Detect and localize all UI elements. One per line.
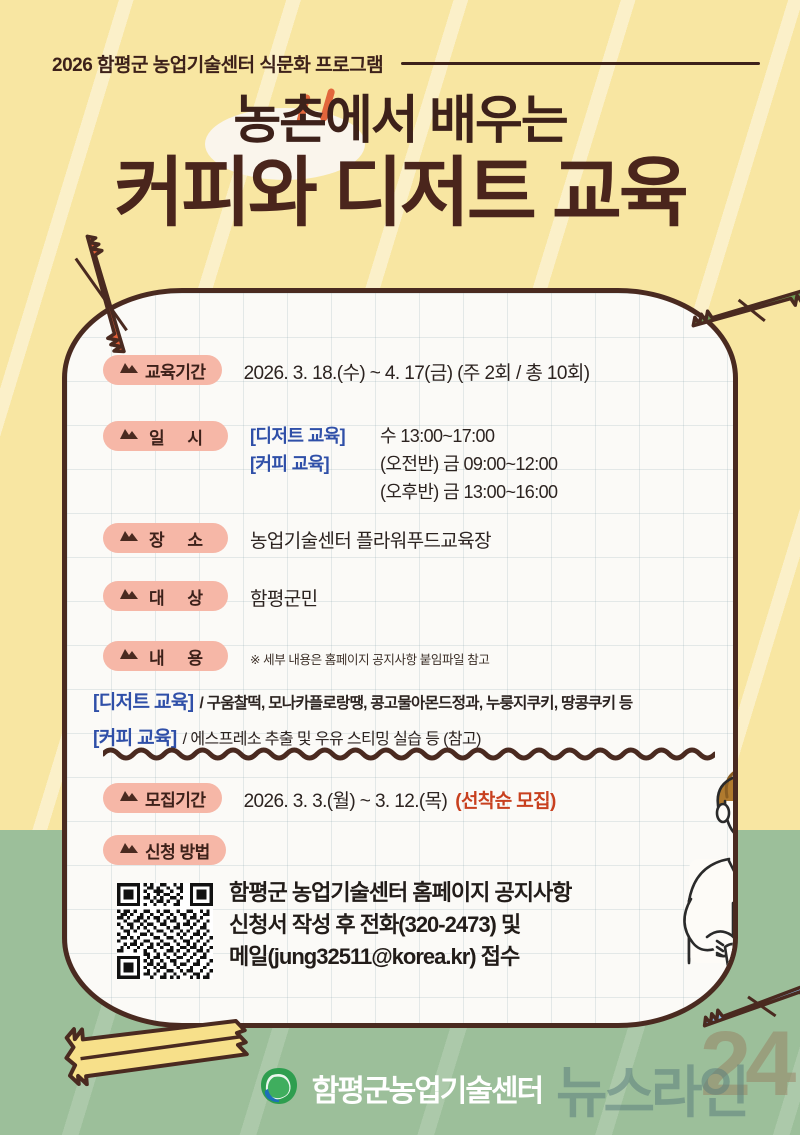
row-location: 장 소 농업기술센터 플라워푸드교육장 — [103, 523, 491, 553]
value-recruitment-period: 2026. 3. 3.(월) ~ 3. 12.(목) — [244, 786, 448, 813]
value-coffee-afternoon: (오후반) 금 13:00~16:00 — [380, 479, 557, 507]
contact-line-3: 메일(jung32511@korea.kr) 접수 — [229, 941, 571, 973]
header: 2026 함평군 농업기술센터 식문화 프로그램 — [0, 46, 800, 80]
agency-name: 함평군농업기술센터 — [312, 1066, 542, 1110]
title-line-2: 커피와 디저트 교육 — [0, 152, 800, 236]
mountain-icon — [119, 427, 139, 445]
tag-dessert-schedule: [디저트 교육] — [250, 423, 362, 451]
row-apply-method: 신청 방법 — [103, 835, 226, 865]
barista-illustration — [667, 741, 738, 971]
row-education-period: 교육기간 2026. 3. 18.(수) ~ 4. 17(금) (주 2회 / … — [103, 355, 589, 385]
title-line-1: 농촌에서 배우는 — [0, 92, 800, 150]
value-location: 농업기술센터 플라워푸드교육장 — [250, 526, 491, 553]
label-pill-target: 대 상 — [103, 581, 228, 611]
contact-block: 함평군 농업기술센터 홈페이지 공지사항 신청서 작성 후 전화(320-247… — [229, 877, 571, 973]
value-target: 함평군민 — [250, 584, 318, 611]
tag-coffee-schedule: [커피 교육] — [250, 451, 362, 479]
tag-dessert-content: [디저트 교육] — [93, 687, 194, 714]
content-dessert-line: [디저트 교육] / 구움찰떡, 모나카플로랑땡, 콩고물아몬드정과, 누룽지쿠… — [93, 687, 632, 714]
agency-logo-icon — [258, 1065, 300, 1112]
mountain-icon — [119, 529, 139, 547]
mountain-icon — [119, 841, 139, 859]
header-rule — [401, 62, 760, 65]
label-text: 교육기간 — [145, 358, 206, 383]
label-text: 신청 방법 — [145, 838, 210, 863]
mountain-icon — [119, 361, 139, 379]
label-text: 일 시 — [145, 424, 212, 449]
info-card: 교육기간 2026. 3. 18.(수) ~ 4. 17(금) (주 2회 / … — [62, 288, 738, 1028]
kicker-text: 2026 함평군 농업기술센터 식문화 프로그램 — [52, 50, 383, 77]
label-pill-schedule: 일 시 — [103, 421, 228, 451]
footer: 함평군농업기술센터 — [0, 1062, 800, 1114]
label-pill-apply-method: 신청 방법 — [103, 835, 226, 865]
mountain-icon — [119, 647, 139, 665]
label-pill-location: 장 소 — [103, 523, 228, 553]
value-dessert-schedule: 수 13:00~17:00 — [380, 423, 494, 451]
mountain-icon — [119, 789, 139, 807]
content-note: ※ 세부 내용은 홈페이지 공지사항 붙임파일 참고 — [250, 649, 489, 668]
wave-divider — [103, 745, 715, 761]
qr-code[interactable] — [117, 883, 213, 979]
poster: 2026 함평군 농업기술센터 식문화 프로그램 농촌에서 배우는 커피와 디저… — [0, 0, 800, 1135]
label-pill-recruitment: 모집기간 — [103, 783, 222, 813]
label-text: 대 상 — [145, 584, 212, 609]
title-block: 농촌에서 배우는 커피와 디저트 교육 — [0, 92, 800, 236]
value-coffee-morning: (오전반) 금 09:00~12:00 — [380, 451, 557, 479]
row-recruitment-period: 모집기간 2026. 3. 3.(월) ~ 3. 12.(목) (선착순 모집) — [103, 783, 556, 813]
mountain-icon — [119, 587, 139, 605]
row-content: 내 용 ※ 세부 내용은 홈페이지 공지사항 붙임파일 참고 — [103, 641, 489, 671]
row-target: 대 상 함평군민 — [103, 581, 318, 611]
contact-line-1: 함평군 농업기술센터 홈페이지 공지사항 — [229, 877, 571, 909]
value-education-period: 2026. 3. 18.(수) ~ 4. 17(금) (주 2회 / 총 10회… — [244, 358, 590, 385]
label-text: 모집기간 — [145, 786, 206, 811]
value-recruitment-highlight: (선착순 모집) — [455, 786, 556, 813]
label-pill-education-period: 교육기간 — [103, 355, 222, 385]
label-text: 내 용 — [145, 644, 212, 669]
value-dessert-content: / 구움찰떡, 모나카플로랑땡, 콩고물아몬드정과, 누룽지쿠키, 땅콩쿠키 등 — [200, 691, 633, 713]
label-text: 장 소 — [145, 526, 212, 551]
label-pill-content: 내 용 — [103, 641, 228, 671]
row-schedule: 일 시 [디저트 교육] 수 13:00~17:00 [커피 교육] (오전반)… — [103, 421, 557, 507]
contact-line-2: 신청서 작성 후 전화(320-2473) 및 — [229, 909, 571, 941]
